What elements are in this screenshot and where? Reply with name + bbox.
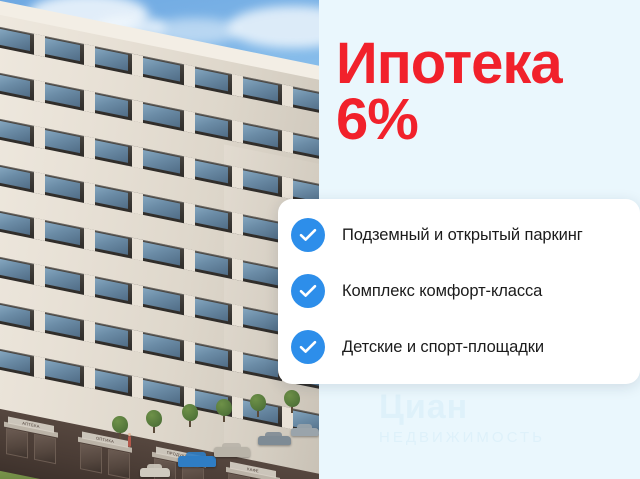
building-render-photo: АПТЕКА ОПТИКА ПРОДУКТЫ КАФЕ [0,0,319,479]
parked-car [178,456,216,467]
street-tree [250,394,266,417]
apartment-building: АПТЕКА ОПТИКА ПРОДУКТЫ КАФЕ [0,8,319,479]
feature-label: Подземный и открытый паркинг [342,226,583,245]
street-tree [146,410,162,433]
feature-label: Детские и спорт-площадки [342,338,544,357]
feature-label: Комплекс комфорт-класса [342,282,542,301]
street-tree [182,404,198,427]
parked-car [214,447,250,457]
check-circle-icon [291,218,325,252]
features-card: Подземный и открытый паркинг Комплекс ко… [278,199,640,384]
page-title: Ипотека 6% [336,36,640,148]
list-item: Подземный и открытый паркинг [291,218,583,252]
list-item: Комплекс комфорт-класса [291,274,542,308]
list-item: Детские и спорт-площадки [291,330,544,364]
headline-line-2: 6% [336,92,640,148]
parked-car [291,428,319,436]
street-tree [216,399,232,422]
check-circle-icon [291,330,325,364]
brand-watermark: Циан НЕДВИЖИМОСТЬ [379,388,639,446]
real-estate-ad-banner: АПТЕКА ОПТИКА ПРОДУКТЫ КАФЕ [0,0,640,479]
parked-car [258,436,291,445]
watermark-brand: Циан [379,388,468,426]
check-circle-icon [291,274,325,308]
watermark-subtitle: НЕДВИЖИМОСТЬ [379,429,639,446]
pedestrian [128,436,131,447]
street-tree [112,416,128,439]
street-tree [284,390,300,413]
parked-car [140,468,170,477]
